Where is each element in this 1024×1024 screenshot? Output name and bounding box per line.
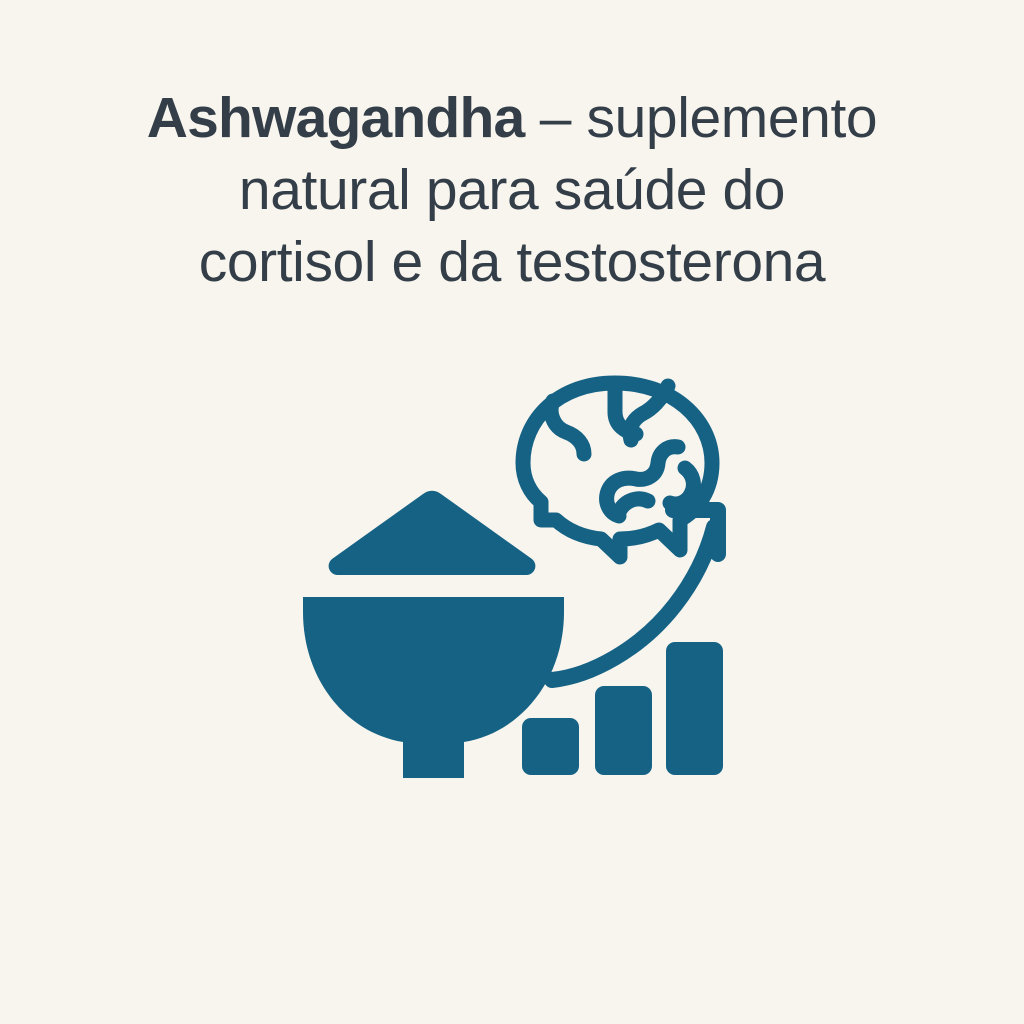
headline-line-3: cortisol e da testosterona bbox=[60, 226, 964, 298]
headline-line-1-rest: – suplemento bbox=[524, 86, 877, 150]
poster-card: Ashwagandha – suplemento natural para sa… bbox=[0, 0, 1024, 1024]
page-title: Ashwagandha – suplemento natural para sa… bbox=[0, 82, 1024, 298]
ashwagandha-benefits-illustration bbox=[290, 350, 740, 800]
brand-name: Ashwagandha bbox=[147, 86, 525, 150]
brain-icon bbox=[523, 383, 712, 557]
growth-bar-3 bbox=[666, 642, 723, 775]
headline-line-2: natural para saúde do bbox=[60, 154, 964, 226]
headline-line-1: Ashwagandha – suplemento bbox=[60, 82, 964, 154]
growth-bar-1 bbox=[522, 718, 579, 775]
growth-bar-2 bbox=[595, 686, 652, 775]
